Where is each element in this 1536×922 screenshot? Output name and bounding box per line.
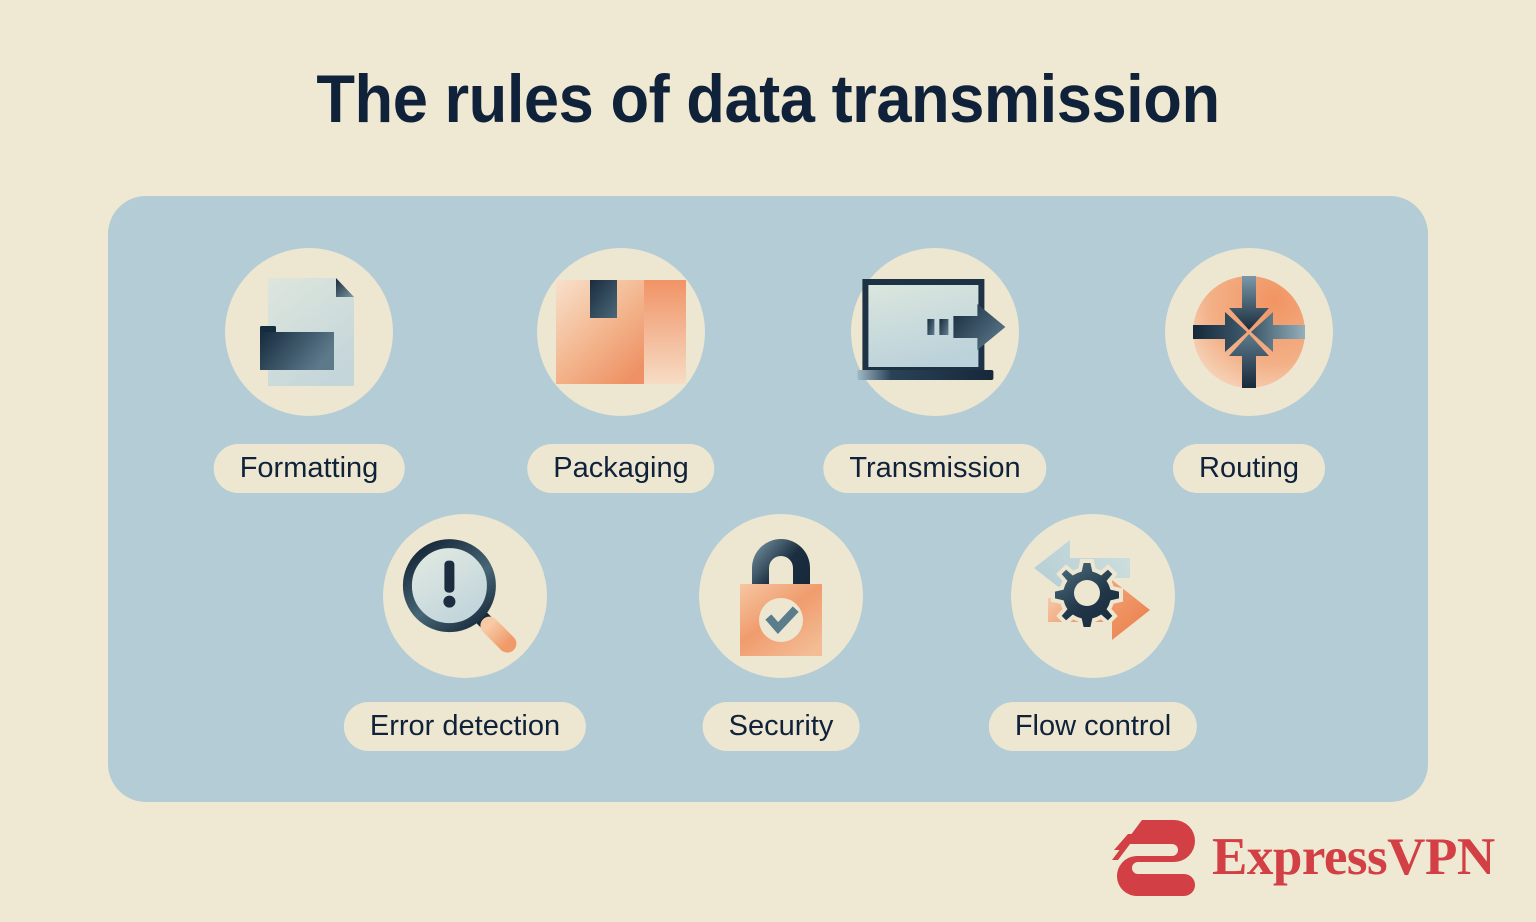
- item-label: Transmission: [823, 444, 1046, 493]
- icon-disc: [383, 514, 547, 678]
- icon-disc: [537, 248, 705, 416]
- document-page-icon: [254, 272, 364, 392]
- icon-disc: [225, 248, 393, 416]
- item-transmission[interactable]: Transmission: [840, 248, 1030, 498]
- expressvpn-e-logo-icon: [1112, 818, 1198, 896]
- item-label: Formatting: [214, 444, 405, 493]
- icon-disc: [851, 248, 1019, 416]
- item-security[interactable]: Security: [686, 514, 876, 764]
- brand-wordmark: ExpressVPN: [1212, 827, 1495, 887]
- content-panel: Formatting: [108, 196, 1428, 802]
- page-title: The rules of data transmission: [54, 60, 1482, 138]
- item-packaging[interactable]: Packaging: [526, 248, 716, 498]
- icon-disc: [1165, 248, 1333, 416]
- icon-disc: [1011, 514, 1175, 678]
- four-way-arrows-icon: [1179, 262, 1319, 402]
- item-routing[interactable]: Routing: [1154, 248, 1344, 498]
- item-label: Error detection: [344, 702, 586, 751]
- item-formatting[interactable]: Formatting: [214, 248, 404, 498]
- item-label: Security: [703, 702, 860, 751]
- item-label: Routing: [1173, 444, 1325, 493]
- item-label: Flow control: [989, 702, 1197, 751]
- laptop-arrow-icon: [853, 272, 1023, 392]
- infographic-page: The rules of data transmission: [0, 0, 1536, 922]
- icon-disc: [699, 514, 863, 678]
- magnifier-exclamation-icon: [397, 534, 527, 664]
- padlock-check-icon: [719, 530, 843, 662]
- arrows-gear-icon: [1026, 536, 1160, 656]
- parcel-box-icon: [554, 276, 688, 388]
- brand-logo: ExpressVPN: [1112, 818, 1495, 896]
- item-error-detection[interactable]: Error detection: [370, 514, 560, 764]
- item-flow-control[interactable]: Flow control: [998, 514, 1188, 764]
- item-label: Packaging: [527, 444, 714, 493]
